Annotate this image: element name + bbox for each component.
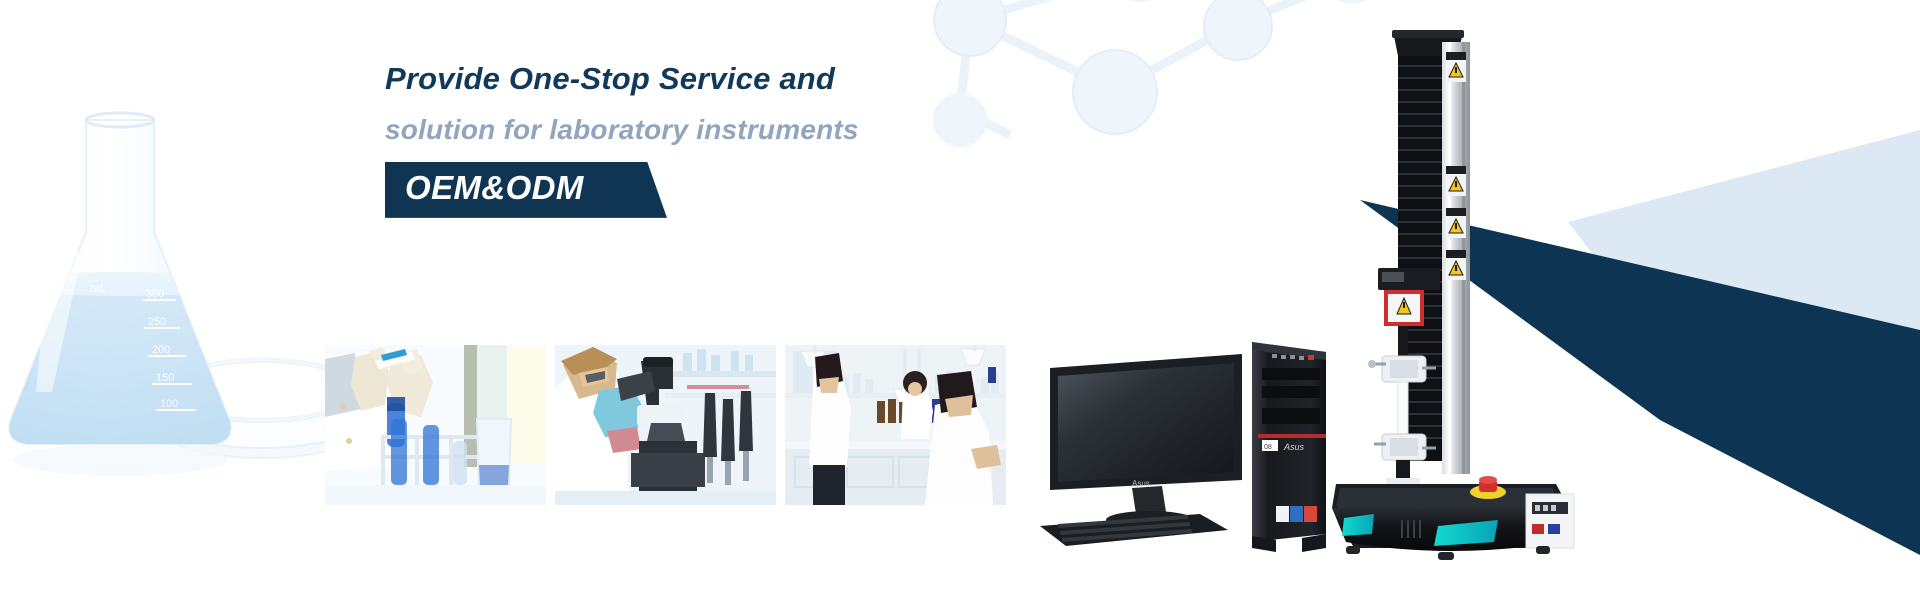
decorative-wedges xyxy=(1300,0,1920,597)
light-blue-wedge xyxy=(1568,130,1920,420)
photo-microscope-analysis xyxy=(555,345,776,505)
base-light-left xyxy=(1342,514,1374,536)
svg-text:100: 100 xyxy=(160,398,178,410)
svg-text:08: 08 xyxy=(1264,444,1272,451)
warning-labels xyxy=(1446,52,1466,280)
svg-text:250: 250 xyxy=(148,316,166,328)
svg-text:300: 300 xyxy=(146,288,164,300)
svg-text:mL: mL xyxy=(90,281,107,295)
headline-block: Provide One-Stop Service and solution fo… xyxy=(385,62,1145,218)
base-light-center xyxy=(1434,520,1498,546)
svg-text:Asus: Asus xyxy=(1132,479,1150,488)
navy-arrow-wedge xyxy=(1360,200,1920,555)
desktop-computer-workstation: 08 Asus Asus xyxy=(1040,330,1330,560)
hero-banner: 300 250 200 150 100 mL Provide One-Stop … xyxy=(0,0,1920,597)
photo-laboratory-team xyxy=(785,345,1006,505)
universal-tensile-testing-machine xyxy=(1330,8,1580,568)
svg-text:150: 150 xyxy=(156,372,174,384)
oem-odm-badge: OEM&ODM xyxy=(385,162,667,218)
headline-line-1: Provide One-Stop Service and xyxy=(385,62,1145,96)
photo-strip xyxy=(325,345,1006,505)
headline-line-2: solution for laboratory instruments xyxy=(385,115,1145,146)
badge-label: OEM&ODM xyxy=(405,169,584,207)
svg-text:Asus: Asus xyxy=(1283,442,1305,452)
svg-text:200: 200 xyxy=(152,344,170,356)
photo-pipetting-test-tubes xyxy=(325,345,546,505)
flask-graduations: 300 250 200 150 100 mL xyxy=(90,281,196,410)
